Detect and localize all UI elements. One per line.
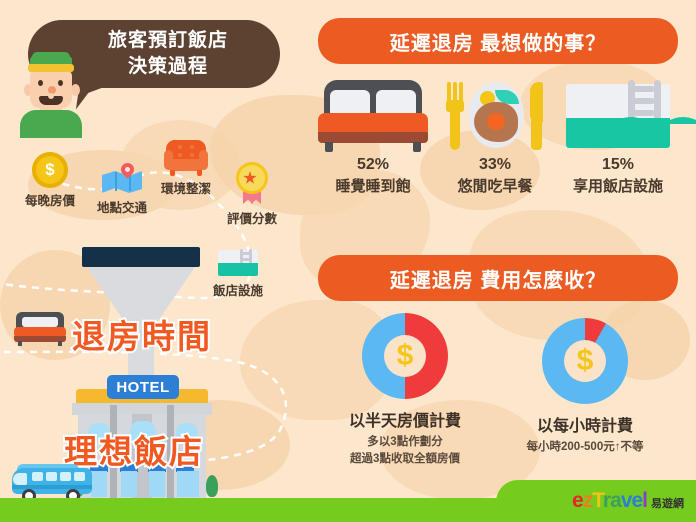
logo-letter-2: T xyxy=(592,489,603,512)
donut-chart-hourly: $ xyxy=(542,318,628,404)
bed-icon xyxy=(14,312,66,346)
bubble-line-1: 旅客預訂飯店 xyxy=(108,29,228,53)
banner-fees: 延遲退房 費用怎麼收？ xyxy=(318,255,678,301)
sofa-icon xyxy=(164,140,208,176)
criteria-label: 評價分數 xyxy=(214,208,290,227)
activity-percent: 15% xyxy=(543,156,693,174)
logo-letter-5: v xyxy=(621,489,632,512)
breakfast-icon xyxy=(440,80,550,152)
criteria-item-0: 每晚房價 xyxy=(14,152,86,209)
logo-letter-1: z xyxy=(583,489,593,512)
award-ribbon-icon xyxy=(234,162,270,206)
criteria-label: 每晚房價 xyxy=(14,190,86,209)
fee-sub-1: 每小時200-500元↑不等 xyxy=(510,439,660,456)
bubble-line-2: 決策過程 xyxy=(128,55,208,79)
infographic-canvas: 旅客預訂飯店 決策過程 每晚房價 地點交通 xyxy=(0,0,696,522)
criteria-label: 環境整潔 xyxy=(148,178,224,197)
fee-item-1: $ 以每小時計費 每小時200-500元↑不等 xyxy=(510,318,660,456)
activity-caption: 享用飯店設施 xyxy=(543,175,693,196)
swimming-pool-icon xyxy=(566,80,670,152)
logo-letter-0: e xyxy=(572,489,583,512)
dollar-icon: $ xyxy=(564,340,606,382)
criteria-label: 地點交通 xyxy=(84,197,160,216)
logo-letter-6: e xyxy=(631,489,642,512)
fee-item-0: $ 以半天房價計費 多以3點作劃分 超過3點收取全額房價 xyxy=(330,313,480,467)
bed-icon xyxy=(318,80,428,152)
criteria-item-3: 評價分數 xyxy=(214,162,290,227)
fee-sub-1: 多以3點作劃分 xyxy=(330,434,480,451)
criteria-label: 飯店設施 xyxy=(200,280,276,299)
donut-chart-half-day: $ xyxy=(362,313,448,399)
hotel-sign: HOTEL xyxy=(107,375,179,399)
eztravel-logo[interactable]: ezTravel 易遊網 xyxy=(572,489,684,513)
logo-letter-7: l xyxy=(642,489,647,512)
map-pin-icon xyxy=(102,165,142,195)
fee-title: 以每小時計費 xyxy=(510,412,660,436)
criteria-item-4: 飯店設施 xyxy=(200,250,276,299)
criteria-item-2: 環境整潔 xyxy=(148,140,224,197)
fee-sub-2: 超過3點收取全額房價 xyxy=(330,451,480,468)
coin-icon xyxy=(32,152,68,188)
logo-letter-4: a xyxy=(610,489,621,512)
funnel-headline: 退房時間 xyxy=(72,310,212,358)
dollar-icon: $ xyxy=(384,335,426,377)
logo-chinese-name: 易遊網 xyxy=(651,495,684,511)
activity-item-2: 15% 享用飯店設施 xyxy=(543,80,693,196)
bellhop-character-icon xyxy=(18,52,86,138)
banner-activities: 延遲退房 最想做的事？ xyxy=(318,18,678,64)
swimming-pool-icon xyxy=(218,250,258,278)
fee-title: 以半天房價計費 xyxy=(330,407,480,431)
